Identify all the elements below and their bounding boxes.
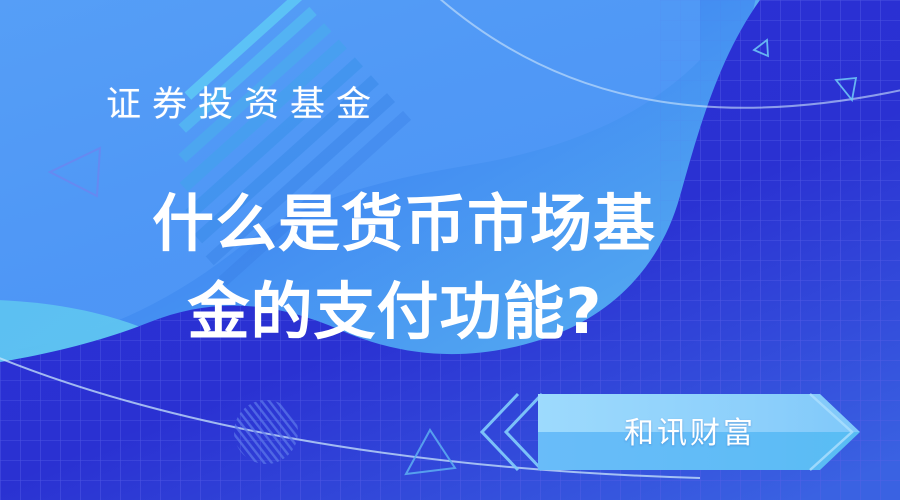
- headline-line-1: 什么是货币市场基: [0, 180, 790, 268]
- chevron-outline-outer: [482, 394, 518, 470]
- chevron-outline-inner: [506, 394, 542, 470]
- brand-label: 和讯财富: [555, 408, 825, 452]
- poster-content: 证券投资基金 什么是货币市场基 金的支付功能? 和讯财富: [0, 0, 900, 500]
- poster-canvas: 证券投资基金 什么是货币市场基 金的支付功能? 和讯财富: [0, 0, 900, 500]
- poster-headline: 什么是货币市场基 金的支付功能?: [0, 180, 790, 356]
- headline-line-2: 金的支付功能?: [0, 268, 790, 356]
- poster-eyebrow: 证券投资基金: [106, 76, 382, 127]
